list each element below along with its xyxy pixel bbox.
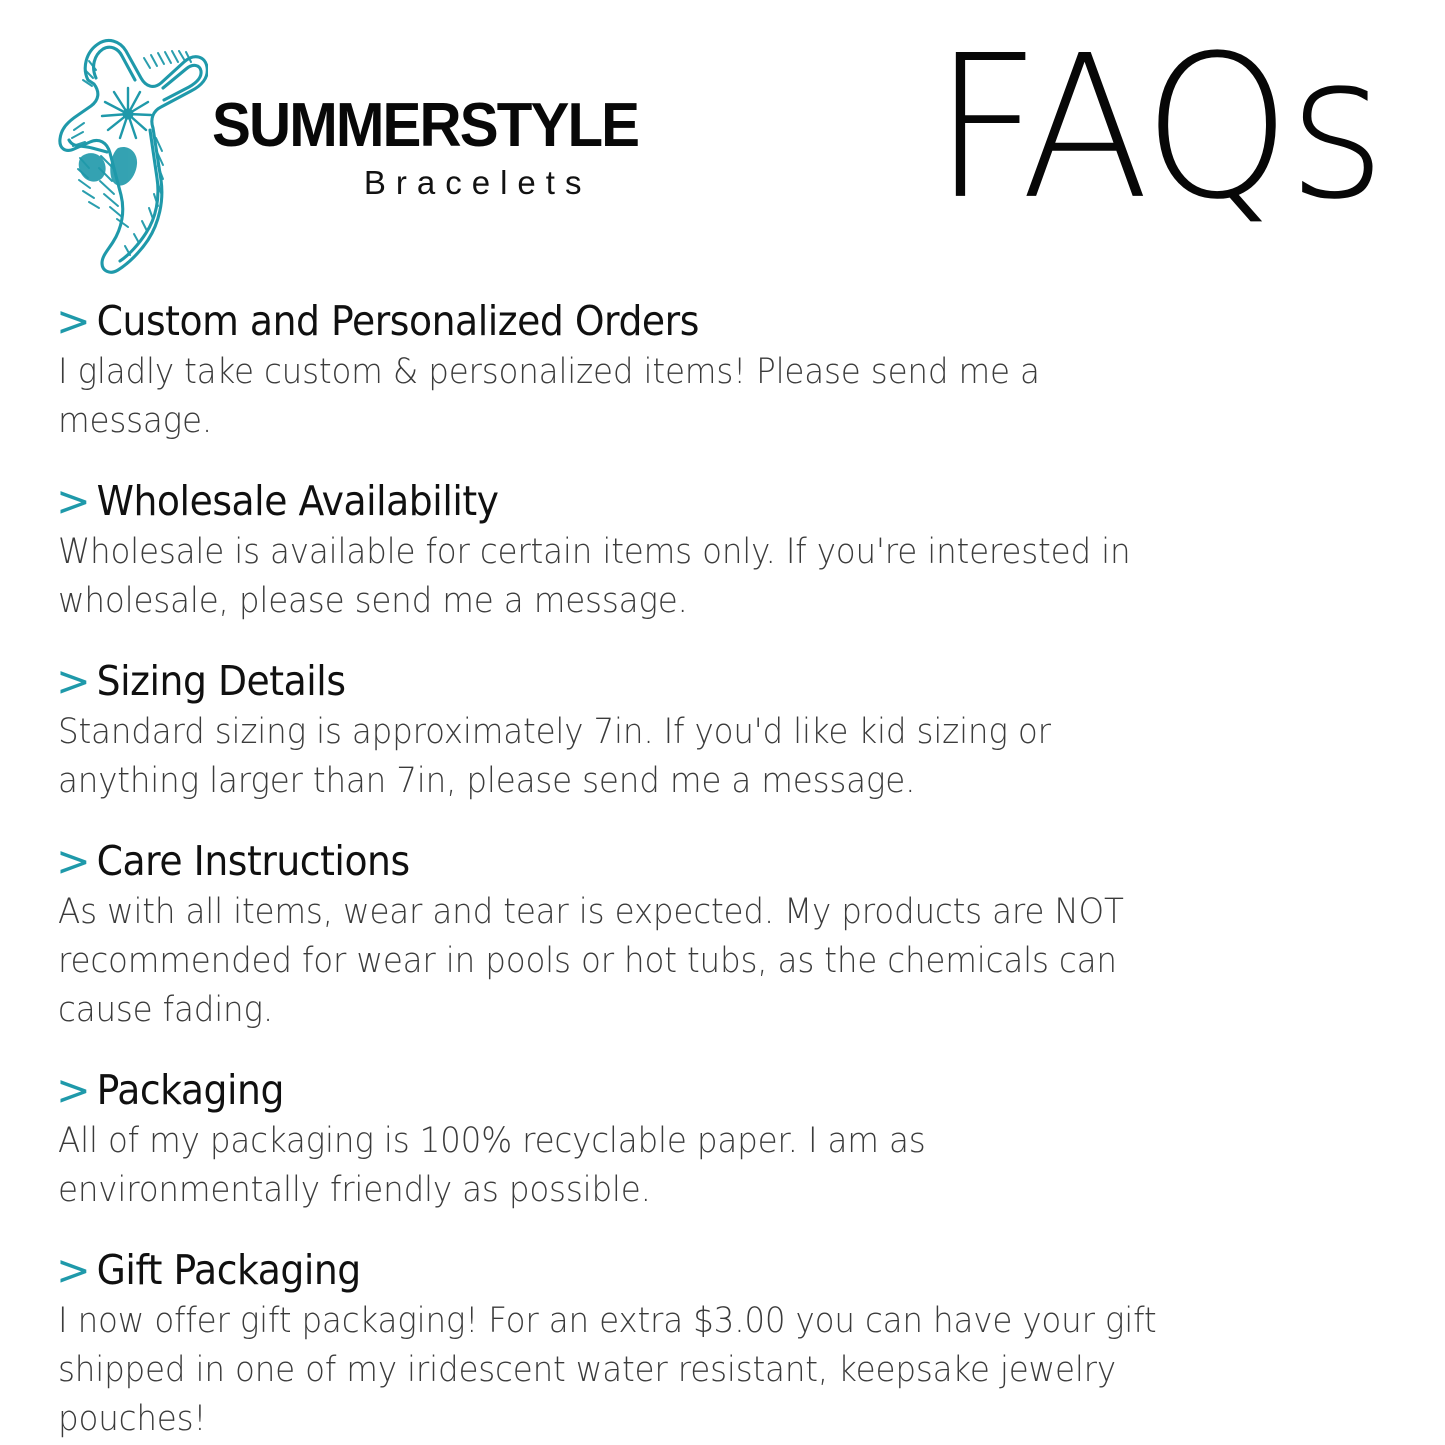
chevron-right-icon: > (56, 1070, 90, 1112)
chevron-right-icon: > (56, 481, 90, 523)
faq-heading[interactable]: > Packaging (58, 1065, 1279, 1115)
faq-item: > Gift Packaging I now offer gift packag… (58, 1245, 1385, 1444)
faq-heading[interactable]: > Gift Packaging (58, 1245, 1279, 1295)
faq-item: > Sizing Details Standard sizing is appr… (58, 656, 1385, 806)
faq-body: As with all items, wear and tear is expe… (58, 888, 1160, 1035)
faq-body: Standard sizing is approximately 7in. If… (58, 708, 1160, 806)
faq-body: I now offer gift packaging! For an extra… (58, 1297, 1160, 1444)
faq-page: { "brand": { "logo_icon": "starfish-icon… (0, 0, 1445, 1445)
faq-body: I gladly take custom & personalized item… (58, 348, 1160, 446)
faq-item: > Care Instructions As with all items, w… (58, 836, 1385, 1035)
faq-heading-label: Care Instructions (97, 836, 410, 886)
faq-heading-label: Packaging (97, 1065, 284, 1115)
faq-item: > Wholesale Availability Wholesale is av… (58, 476, 1385, 626)
faq-heading-label: Custom and Personalized Orders (97, 296, 699, 346)
faq-item: > Custom and Personalized Orders I gladl… (58, 296, 1385, 446)
faq-heading-label: Sizing Details (97, 656, 346, 706)
page-header: SUMMERSTYLE Bracelets FAQs (0, 0, 1445, 288)
chevron-right-icon: > (56, 841, 90, 883)
chevron-right-icon: > (56, 1250, 90, 1292)
starfish-icon (58, 18, 208, 276)
chevron-right-icon: > (56, 301, 90, 343)
faq-list: > Custom and Personalized Orders I gladl… (0, 296, 1445, 1444)
chevron-right-icon: > (56, 661, 90, 703)
faq-heading-label: Wholesale Availability (97, 476, 499, 526)
faq-heading[interactable]: > Wholesale Availability (58, 476, 1279, 526)
faq-heading[interactable]: > Care Instructions (58, 836, 1279, 886)
faq-heading-label: Gift Packaging (97, 1245, 361, 1295)
brand-lockup: SUMMERSTYLE Bracelets (58, 18, 665, 276)
brand-text: SUMMERSTYLE Bracelets (212, 96, 665, 202)
faq-item: > Packaging All of my packaging is 100% … (58, 1065, 1385, 1215)
faq-heading[interactable]: > Sizing Details (58, 656, 1279, 706)
brand-subtitle: Bracelets (364, 164, 592, 202)
faq-heading[interactable]: > Custom and Personalized Orders (58, 296, 1279, 346)
brand-wordmark: SUMMERSTYLE (212, 96, 638, 156)
page-title: FAQs (933, 30, 1383, 227)
faq-body: Wholesale is available for certain items… (58, 528, 1160, 626)
faq-body: All of my packaging is 100% recyclable p… (58, 1117, 1160, 1215)
